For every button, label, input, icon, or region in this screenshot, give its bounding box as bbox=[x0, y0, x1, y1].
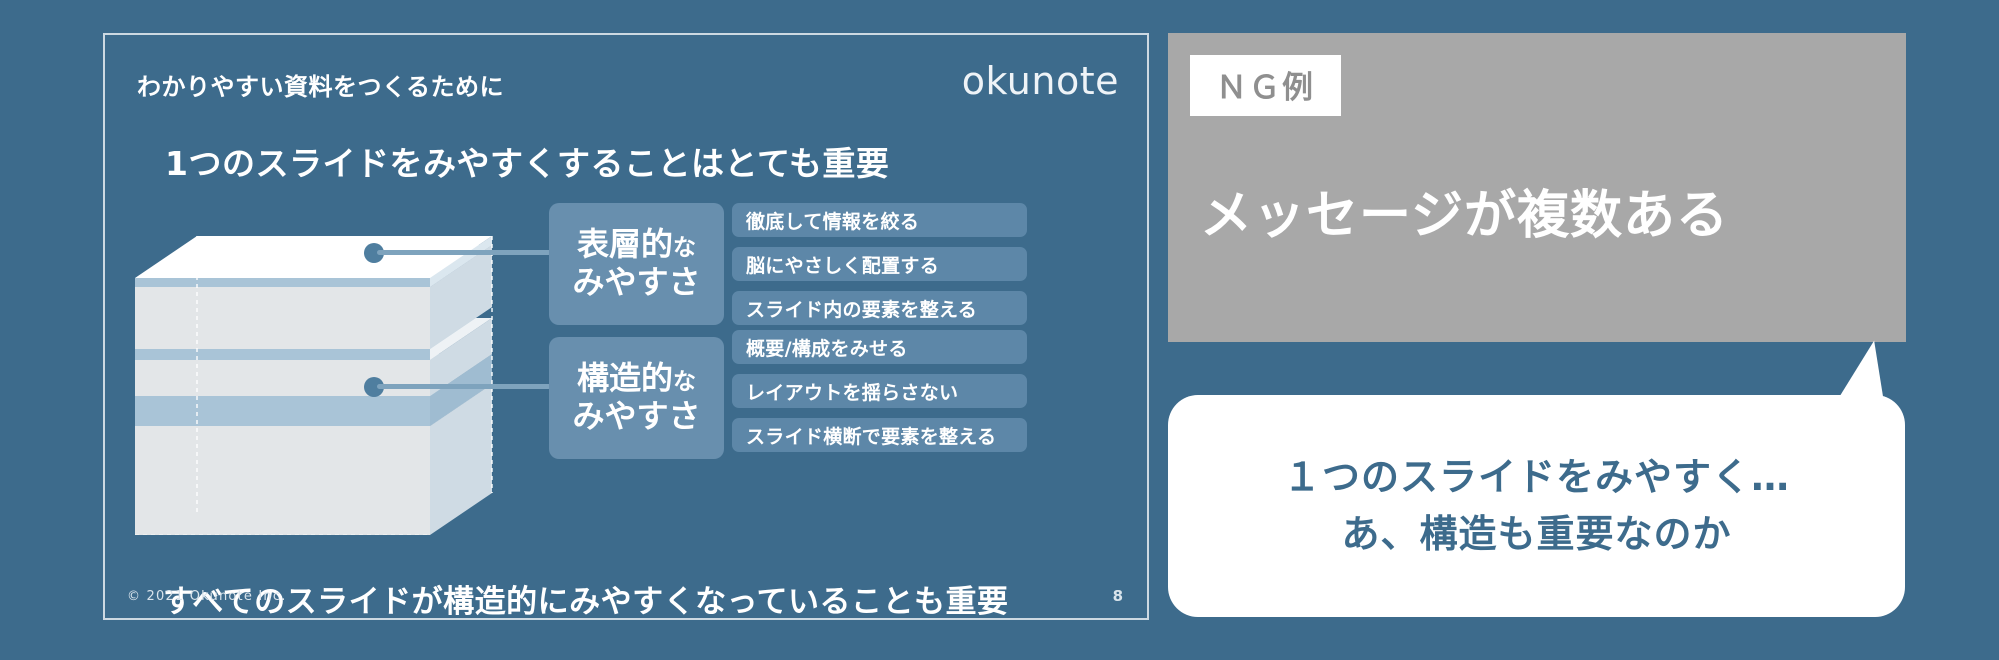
speech-bubble-line-2: あ、構造も重要なのか bbox=[1341, 506, 1731, 563]
category-main-structure: 構造的 bbox=[577, 359, 673, 397]
chip-surface-3[interactable]: スライド内の要素を整える bbox=[732, 291, 1027, 325]
chip-structure-3-label: スライド横断で要素を整える bbox=[746, 422, 996, 449]
category-main-surface: 表層的 bbox=[577, 225, 673, 263]
slide-page-number: 8 bbox=[1113, 587, 1123, 605]
ng-message-text: メッセージが複数ある bbox=[1200, 173, 1729, 248]
category-suffix-surface: な bbox=[673, 235, 696, 261]
screenshot-canvas: わかりやすい資料をつくるために okunote 1つのスライドをみやすくすること… bbox=[0, 0, 1999, 660]
cube-svg bbox=[135, 210, 555, 535]
category-suffix-structure: な bbox=[673, 369, 696, 395]
chip-structure-1-label: 概要/構成をみせる bbox=[746, 334, 908, 361]
layered-cube-diagram bbox=[135, 210, 555, 535]
connector-line-structure bbox=[377, 384, 551, 389]
category-label-structure-line2: みやすさ bbox=[572, 398, 700, 436]
category-box-surface[interactable]: 表層的な みやすさ bbox=[549, 203, 724, 325]
ng-badge: ＮＧ例 bbox=[1190, 55, 1341, 116]
slide-copyright: © 2021 Okunote Inc. bbox=[127, 589, 287, 604]
chip-surface-1[interactable]: 徹底して情報を絞る bbox=[732, 203, 1027, 237]
chip-structure-1[interactable]: 概要/構成をみせる bbox=[732, 330, 1027, 364]
chip-surface-3-label: スライド内の要素を整える bbox=[746, 295, 977, 322]
slide-preview: わかりやすい資料をつくるために okunote 1つのスライドをみやすくすること… bbox=[103, 33, 1149, 620]
chip-structure-2[interactable]: レイアウトを揺らさない bbox=[732, 374, 1027, 408]
category-label-structure-line1: 構造的な bbox=[577, 360, 696, 398]
chip-surface-2-label: 脳にやさしく配置する bbox=[746, 251, 939, 278]
okunote-logo: okunote bbox=[962, 59, 1119, 103]
chip-surface-2[interactable]: 脳にやさしく配置する bbox=[732, 247, 1027, 281]
speech-bubble: １つのスライドをみやすく… あ、構造も重要なのか bbox=[1168, 395, 1905, 617]
category-box-structure[interactable]: 構造的な みやすさ bbox=[549, 337, 724, 459]
ng-example-panel: ＮＧ例 メッセージが複数ある bbox=[1168, 33, 1906, 342]
slide-header-title: わかりやすい資料をつくるために bbox=[137, 67, 504, 102]
slide-outro-text: すべてのスライドが構造的にみやすくなっていることも重要 bbox=[163, 576, 1009, 621]
speech-bubble-line-1: １つのスライドをみやすく… bbox=[1283, 449, 1790, 506]
category-label-surface-line1: 表層的な bbox=[577, 226, 696, 264]
chip-structure-2-label: レイアウトを揺らさない bbox=[746, 378, 958, 405]
chip-surface-1-label: 徹底して情報を絞る bbox=[746, 207, 919, 234]
connector-line-surface bbox=[377, 250, 551, 255]
category-label-surface-line2: みやすさ bbox=[572, 264, 700, 302]
chip-structure-3[interactable]: スライド横断で要素を整える bbox=[732, 418, 1027, 452]
slide-lead-text: 1つのスライドをみやすくすることはとても重要 bbox=[165, 137, 889, 185]
